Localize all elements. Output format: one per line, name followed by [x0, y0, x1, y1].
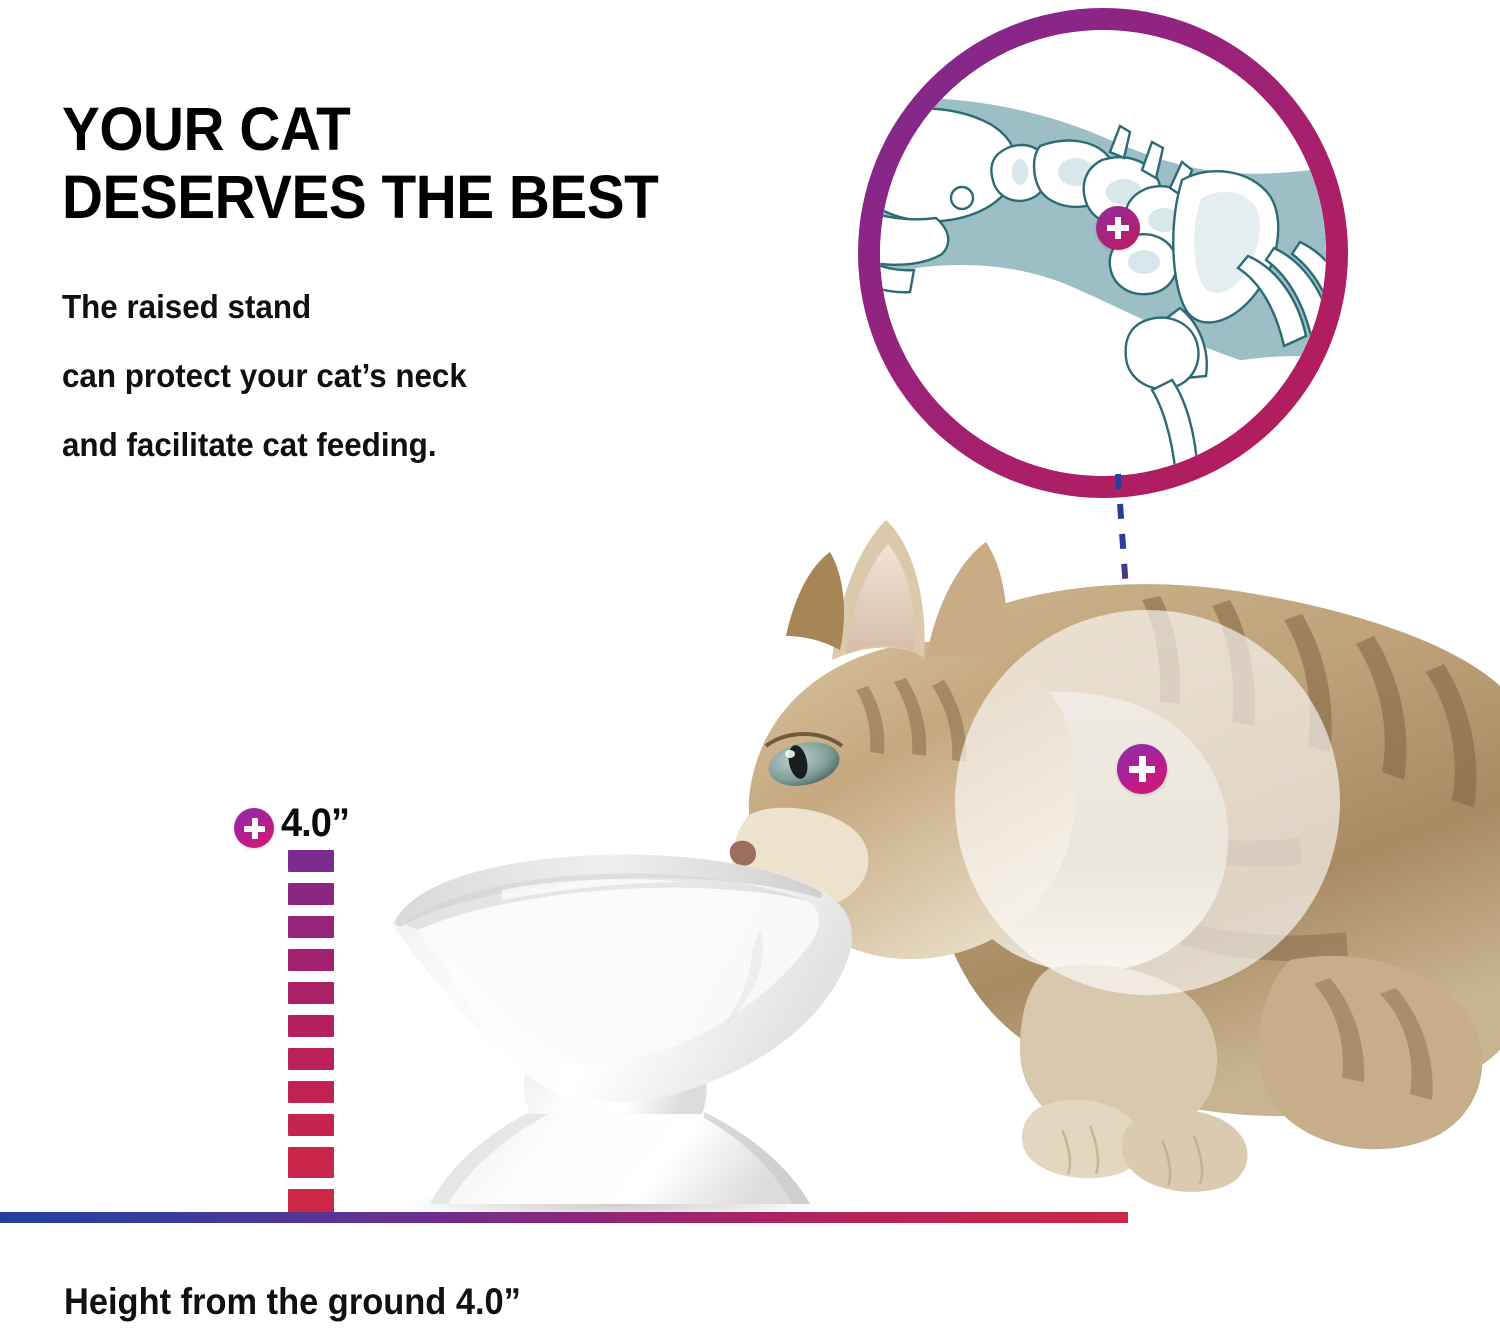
anatomy-plus-badge-icon	[1096, 206, 1140, 250]
ruler-segment	[288, 1048, 334, 1070]
ruler-segment	[288, 883, 334, 905]
body-copy-line-2: can protect your cat’s neck	[62, 359, 467, 392]
anatomy-inset-ring	[858, 8, 1348, 498]
body-copy-line-1: The raised stand	[62, 290, 467, 323]
marketing-infographic: YOUR CAT DESERVES THE BEST The raised st…	[0, 0, 1500, 1329]
headline-line-2: DESERVES THE BEST	[62, 163, 658, 231]
ruler-segment	[288, 1015, 334, 1037]
raised-ceramic-cat-bowl-icon	[352, 832, 877, 1222]
anatomy-inset	[858, 8, 1348, 498]
body-copy: The raised stand can protect your cat’s …	[62, 290, 488, 497]
neck-plus-badge-icon	[1117, 744, 1167, 794]
ground-line	[0, 1212, 1128, 1223]
ruler-segment	[288, 916, 334, 938]
height-ruler	[288, 850, 334, 1213]
ruler-segment	[288, 982, 334, 1004]
page-title: YOUR CAT DESERVES THE BEST	[62, 95, 658, 232]
ruler-segment	[288, 1081, 334, 1103]
ruler-value-label: 4.0”	[281, 801, 349, 846]
ruler-segment	[288, 1114, 334, 1136]
ruler-plus-badge-icon	[234, 808, 274, 848]
ruler-segment	[288, 850, 334, 872]
ruler-segment	[288, 949, 334, 971]
headline-line-1: YOUR CAT	[62, 95, 350, 163]
ruler-segment-base	[288, 1189, 334, 1213]
ruler-segment-base	[288, 1156, 334, 1178]
body-copy-line-3: and facilitate cat feeding.	[62, 428, 467, 461]
caption-text: Height from the ground 4.0”	[64, 1281, 521, 1323]
cat-cervical-spine-diagram-icon	[880, 30, 1326, 476]
